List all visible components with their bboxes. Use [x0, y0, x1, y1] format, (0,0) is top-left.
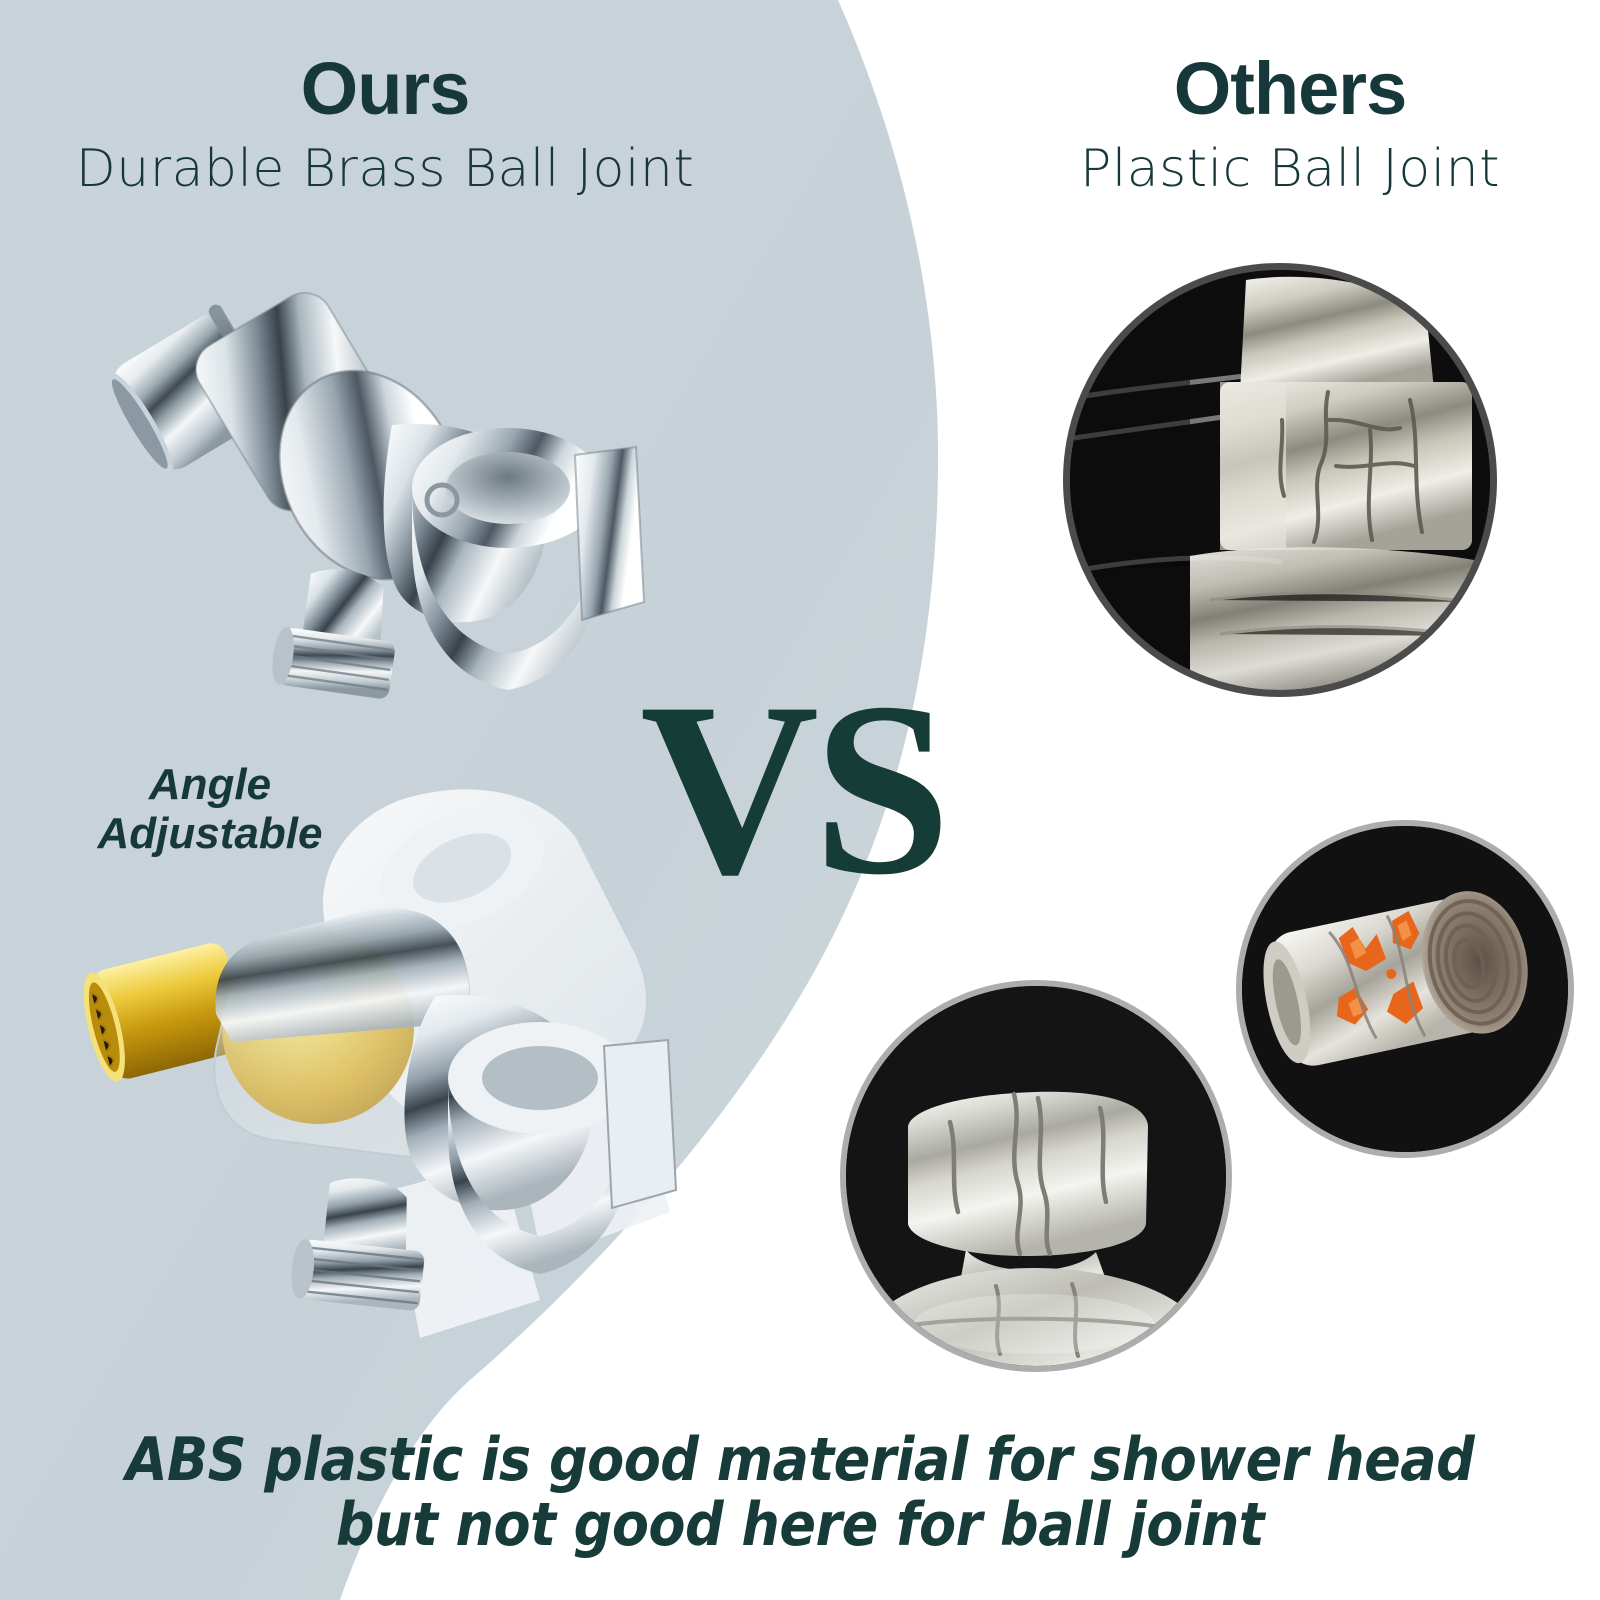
caption-line-1: ABS plastic is good material for shower … — [126, 1425, 1475, 1495]
page-title-ours: Ours — [40, 52, 730, 126]
right-column-heading: Others Plastic Ball Joint — [1000, 52, 1580, 197]
angle-adjustable-badge: Angle Adjustable — [60, 760, 360, 859]
badge-line-1: Angle — [60, 760, 360, 809]
vs-divider-label: VS — [640, 665, 945, 913]
product-image-shower-holder — [70, 250, 690, 710]
right-column-subtitle: Plastic Ball Joint — [1000, 142, 1580, 197]
defect-photo-cracked-plastic-ball-joint — [1063, 263, 1497, 697]
caption-line-2: but not good here for ball joint — [0, 1493, 1600, 1558]
defect-photo-broken-plastic-thread-rust — [1236, 820, 1574, 1158]
defect-photo-cracked-chrome-nut — [840, 980, 1232, 1372]
page-title-others: Others — [1000, 52, 1580, 126]
left-column-heading: Ours Durable Brass Ball Joint — [40, 52, 730, 197]
bottom-caption: ABS plastic is good material for shower … — [0, 1428, 1600, 1558]
comparison-poster: Ours Durable Brass Ball Joint Others Pla… — [0, 0, 1600, 1600]
left-column-subtitle: Durable Brass Ball Joint — [40, 142, 730, 197]
badge-line-2: Adjustable — [60, 809, 360, 858]
